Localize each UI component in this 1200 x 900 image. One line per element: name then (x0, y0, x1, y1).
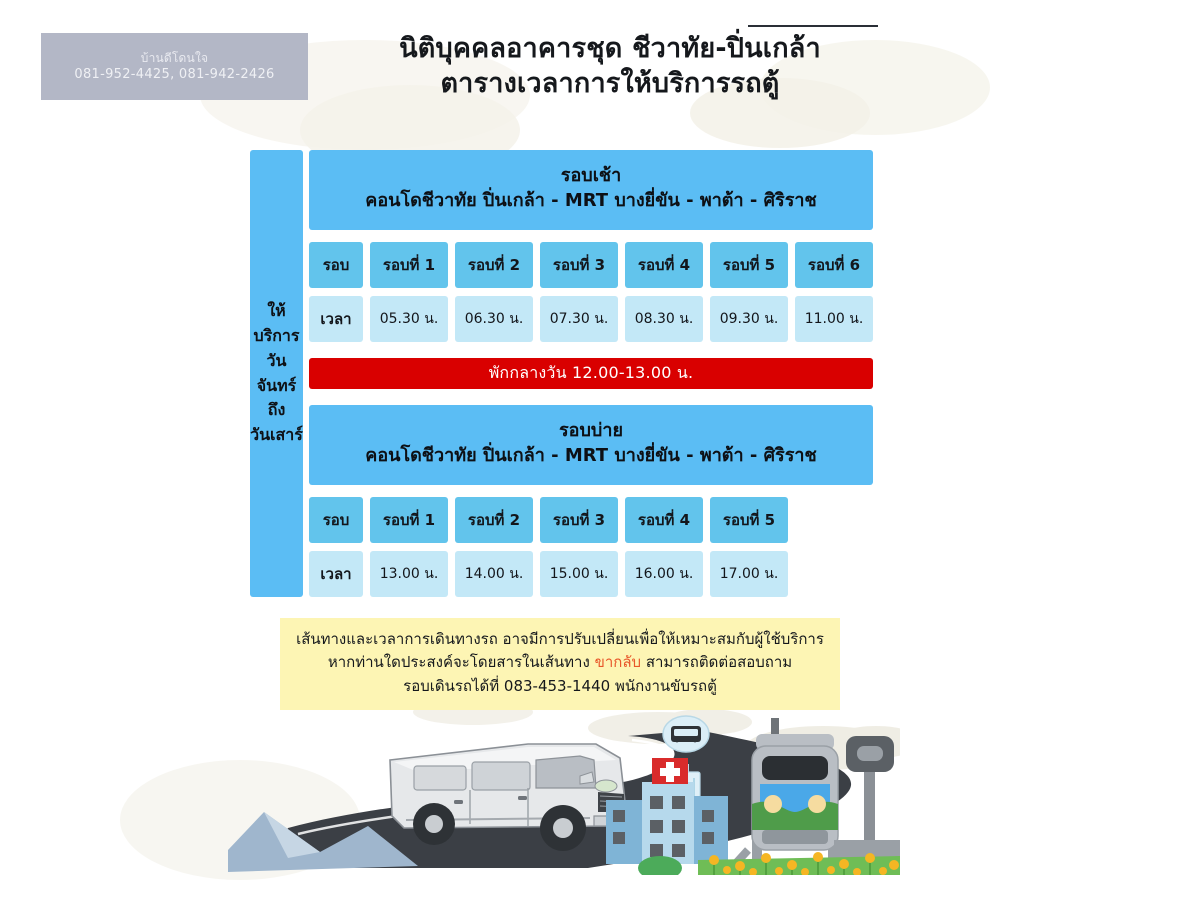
morning-route: คอนโดชีวาทัย ปิ่นเกล้า - MRT บางยี่ขัน -… (315, 188, 867, 214)
brand-name: บ้านดีโดนใจ (141, 52, 208, 64)
notice-line-1: เส้นทางและเวลาการเดินทางรถ อาจมีการปรับเ… (288, 628, 832, 651)
morning-round-cell: รอบที่ 2 (455, 242, 533, 288)
header-rule (748, 25, 878, 27)
afternoon-round-row: รอบ รอบที่ 1 รอบที่ 2 รอบที่ 3 รอบที่ 4 … (309, 497, 873, 543)
notice-line-2-part-b: สามารถติดต่อสอบถาม (641, 653, 792, 671)
afternoon-time-row: เวลา 13.00 น. 14.00 น. 15.00 น. 16.00 น.… (309, 551, 873, 597)
morning-time-row: เวลา 05.30 น. 06.30 น. 07.30 น. 08.30 น.… (309, 296, 873, 342)
morning-round-cell: รอบที่ 5 (710, 242, 788, 288)
afternoon-time-row-label: เวลา (309, 551, 363, 597)
bottom-illustration (228, 700, 900, 875)
morning-time-cell: 09.30 น. (710, 296, 788, 342)
afternoon-time-cell: 15.00 น. (540, 551, 618, 597)
service-days-label: ให้ บริการ วันจันทร์ ถึง วันเสาร์ (250, 299, 303, 448)
contact-phone-numbers: 081-952-4425, 081-942-2426 (74, 68, 274, 81)
afternoon-round-cell: รอบที่ 2 (455, 497, 533, 543)
morning-round-row-label: รอบ (309, 242, 363, 288)
service-days-column: ให้ บริการ วันจันทร์ ถึง วันเสาร์ (250, 150, 303, 597)
notice-line-2-part-a: หากท่านใดประสงค์จะโดยสารในเส้นทาง (328, 653, 595, 671)
afternoon-round-cell: รอบที่ 5 (710, 497, 788, 543)
morning-section-banner: รอบเช้า คอนโดชีวาทัย ปิ่นเกล้า - MRT บาง… (309, 150, 873, 230)
morning-time-row-label: เวลา (309, 296, 363, 342)
morning-round-cell: รอบที่ 4 (625, 242, 703, 288)
page-header: นิติบุคคลอาคารชุด ชีวาทัย-ปิ่นเกล้า ตารา… (330, 32, 890, 101)
morning-time-cell: 05.30 น. (370, 296, 448, 342)
morning-time-cell: 08.30 น. (625, 296, 703, 342)
afternoon-table: รอบ รอบที่ 1 รอบที่ 2 รอบที่ 3 รอบที่ 4 … (309, 497, 873, 597)
schedule-board: ให้ บริการ วันจันทร์ ถึง วันเสาร์ รอบเช้… (250, 150, 873, 597)
afternoon-title: รอบบ่าย (315, 419, 867, 443)
morning-title: รอบเช้า (315, 164, 867, 188)
afternoon-route: คอนโดชีวาทัย ปิ่นเกล้า - MRT บางยี่ขัน -… (315, 443, 867, 469)
lunch-break-bar: พักกลางวัน 12.00-13.00 น. (309, 358, 873, 388)
morning-time-cell: 06.30 น. (455, 296, 533, 342)
morning-round-row: รอบ รอบที่ 1 รอบที่ 2 รอบที่ 3 รอบที่ 4 … (309, 242, 873, 288)
notice-return-trip-highlight: ขากลับ (595, 653, 641, 671)
afternoon-section-banner: รอบบ่าย คอนโดชีวาทัย ปิ่นเกล้า - MRT บาง… (309, 405, 873, 485)
morning-time-cell: 07.30 น. (540, 296, 618, 342)
morning-table: รอบ รอบที่ 1 รอบที่ 2 รอบที่ 3 รอบที่ 4 … (309, 242, 873, 342)
morning-round-cell: รอบที่ 6 (795, 242, 873, 288)
notice-box: เส้นทางและเวลาการเดินทางรถ อาจมีการปรับเ… (280, 618, 840, 710)
contact-logo-box: บ้านดีโดนใจ 081-952-4425, 081-942-2426 (41, 33, 308, 100)
flower-field-icon (698, 852, 900, 875)
notice-line-2: หากท่านใดประสงค์จะโดยสารในเส้นทาง ขากลับ… (288, 651, 832, 674)
afternoon-round-cell: รอบที่ 3 (540, 497, 618, 543)
afternoon-time-cell: 14.00 น. (455, 551, 533, 597)
afternoon-time-cell: 16.00 น. (625, 551, 703, 597)
schedule-sections: รอบเช้า คอนโดชีวาทัย ปิ่นเกล้า - MRT บาง… (309, 150, 873, 597)
afternoon-time-cell: 13.00 น. (370, 551, 448, 597)
morning-round-cell: รอบที่ 3 (540, 242, 618, 288)
notice-line-3: รอบเดินรถได้ที่ 083-453-1440 พนักงานขับร… (288, 675, 832, 698)
morning-round-cell: รอบที่ 1 (370, 242, 448, 288)
page-title-line1: นิติบุคคลอาคารชุด ชีวาทัย-ปิ่นเกล้า (330, 32, 890, 67)
afternoon-round-cell: รอบที่ 1 (370, 497, 448, 543)
afternoon-round-cell: รอบที่ 4 (625, 497, 703, 543)
page-title-line2: ตารางเวลาการให้บริการรถตู้ (330, 67, 890, 102)
morning-time-cell: 11.00 น. (795, 296, 873, 342)
afternoon-round-row-label: รอบ (309, 497, 363, 543)
afternoon-time-cell: 17.00 น. (710, 551, 788, 597)
